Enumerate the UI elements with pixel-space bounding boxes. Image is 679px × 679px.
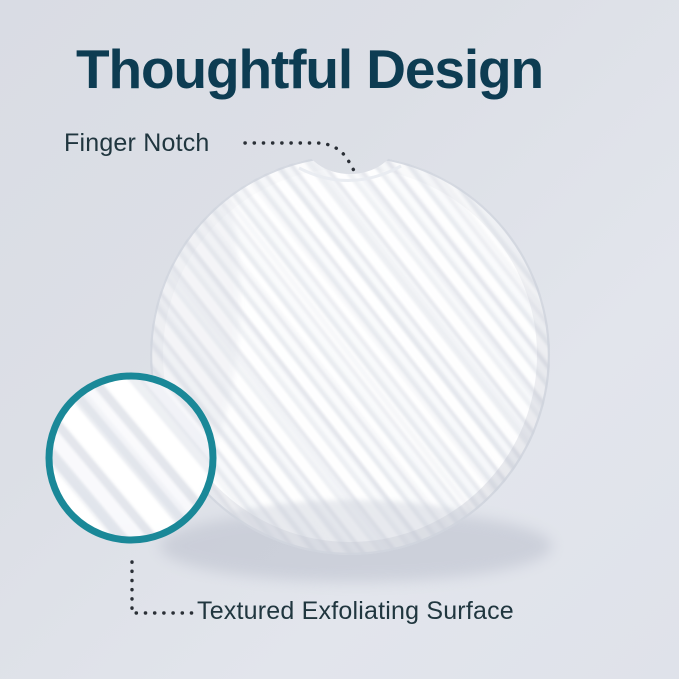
leader-textured-surface (132, 562, 192, 613)
page-title: Thoughtful Design (76, 36, 636, 102)
leader-finger-notch (245, 143, 357, 176)
callout-label-finger-notch: Finger Notch (64, 128, 210, 158)
infographic-canvas: Thoughtful Design Finger Notch Textured … (0, 0, 679, 679)
callout-label-textured-surface: Textured Exfoliating Surface (197, 596, 514, 626)
